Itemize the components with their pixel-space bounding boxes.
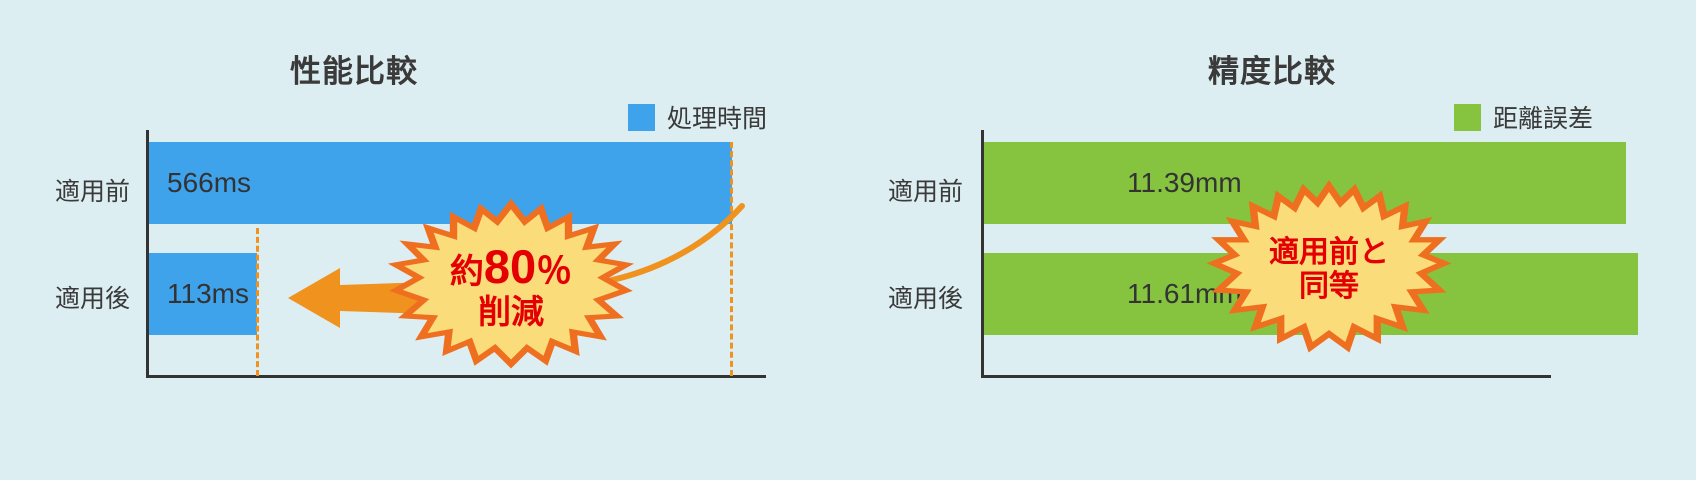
legend-label-distance-error: 距離誤差 — [1493, 99, 1593, 135]
legend-performance: 処理時間 — [628, 99, 767, 135]
accuracy-chart-panel: 精度比較 距離誤差 適用前 適用後 11.39mm 11.61mm 適用前と 同… — [848, 0, 1696, 480]
category-label-before-left: 適用前 — [30, 172, 130, 208]
page-title-performance: 性能比較 — [0, 46, 778, 91]
legend-swatch-distance-error — [1454, 104, 1481, 131]
legend-label-processing-time: 処理時間 — [667, 99, 767, 135]
category-label-before-right: 適用前 — [858, 172, 963, 208]
page-title-accuracy: 精度比較 — [848, 46, 1696, 91]
x-axis-performance — [146, 375, 766, 378]
burst-shape-right — [1214, 186, 1444, 354]
legend-accuracy: 距離誤差 — [1454, 99, 1593, 135]
bar-processing-time-after: 113ms — [149, 253, 257, 335]
legend-swatch-processing-time — [628, 104, 655, 131]
guide-line-after — [256, 228, 259, 376]
category-label-after-left: 適用後 — [30, 279, 130, 315]
x-axis-accuracy — [981, 375, 1551, 378]
category-label-after-right: 適用後 — [858, 279, 963, 315]
burst-shape-left — [396, 204, 626, 364]
callout-burst-reduction: 約80％ 削減 — [396, 204, 626, 364]
bar-value-after-left: 113ms — [167, 278, 249, 310]
performance-chart-panel: 性能比較 処理時間 適用前 適用後 566ms 113ms 約80％ 削減 — [0, 0, 848, 480]
callout-burst-equivalent: 適用前と 同等 — [1214, 186, 1444, 354]
bar-value-before-left: 566ms — [167, 167, 251, 199]
